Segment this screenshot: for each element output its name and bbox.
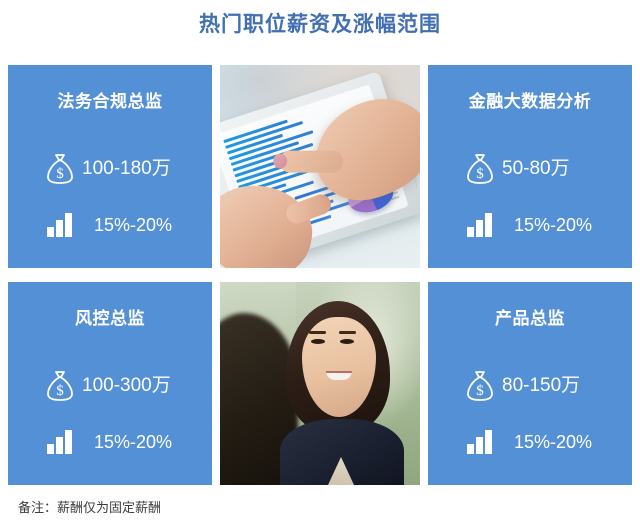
card-salary-value: 80-150万 [502,374,580,398]
eyebrow-left [309,331,326,334]
card-salary-value: 100-180万 [82,157,171,181]
card-salary-value: 100-300万 [82,374,171,398]
index-finger [279,151,343,173]
bar-chart-icon [462,423,498,461]
row-top: 法务合规总监 $ 100-180万 [8,65,632,268]
page-title: 热门职位薪资及涨幅范围 [0,10,640,40]
bar-chart-icon [462,206,498,244]
tablet-analytics-photo [220,65,420,268]
card-bottom-right[interactable]: 产品总监 $ 80-150万 [428,282,632,485]
card-growth-value: 15%-20% [514,430,592,454]
card-growth-row: 15%-20% [42,206,172,244]
infographic-root: 热门职位薪资及涨幅范围 法务合规总监 $ 100-180万 [0,0,640,529]
card-top-left[interactable]: 法务合规总监 $ 100-180万 [8,65,212,268]
businesswoman-portrait-photo [220,282,420,485]
money-bag-icon: $ [42,367,78,405]
card-title: 风控总监 [8,308,212,330]
card-growth-value: 15%-20% [94,213,172,237]
card-bottom-left[interactable]: 风控总监 $ 100-300万 [8,282,212,485]
svg-text:$: $ [476,383,484,399]
card-salary-row: $ 100-180万 [42,150,171,188]
eye-right [340,339,354,344]
money-bag-icon: $ [462,367,498,405]
card-title: 法务合规总监 [8,91,212,113]
bar-chart-icon [42,423,78,461]
svg-text:$: $ [56,383,64,399]
eyebrow-right [339,331,356,334]
svg-text:$: $ [56,166,64,182]
card-growth-row: 15%-20% [42,423,172,461]
svg-text:$: $ [476,166,484,182]
businesswoman-figure [278,295,406,485]
money-bag-icon: $ [462,150,498,188]
card-growth-row: 15%-20% [462,423,592,461]
money-bag-icon: $ [42,150,78,188]
card-growth-row: 15%-20% [462,206,592,244]
cards-grid: 法务合规总监 $ 100-180万 [8,65,632,485]
card-title: 产品总监 [428,308,632,330]
card-salary-value: 50-80万 [502,157,570,181]
row-bottom: 风控总监 $ 100-300万 [8,282,632,485]
eye-left [311,339,325,344]
card-growth-value: 15%-20% [94,430,172,454]
card-top-right[interactable]: 金融大数据分析 $ 50-80万 [428,65,632,268]
card-growth-value: 15%-20% [514,213,592,237]
card-salary-row: $ 80-150万 [462,367,580,405]
card-salary-row: $ 50-80万 [462,150,570,188]
card-title: 金融大数据分析 [428,91,632,113]
footer-note: 备注：薪酬仅为固定薪酬 [18,499,161,517]
bar-chart-icon [42,206,78,244]
card-salary-row: $ 100-300万 [42,367,171,405]
